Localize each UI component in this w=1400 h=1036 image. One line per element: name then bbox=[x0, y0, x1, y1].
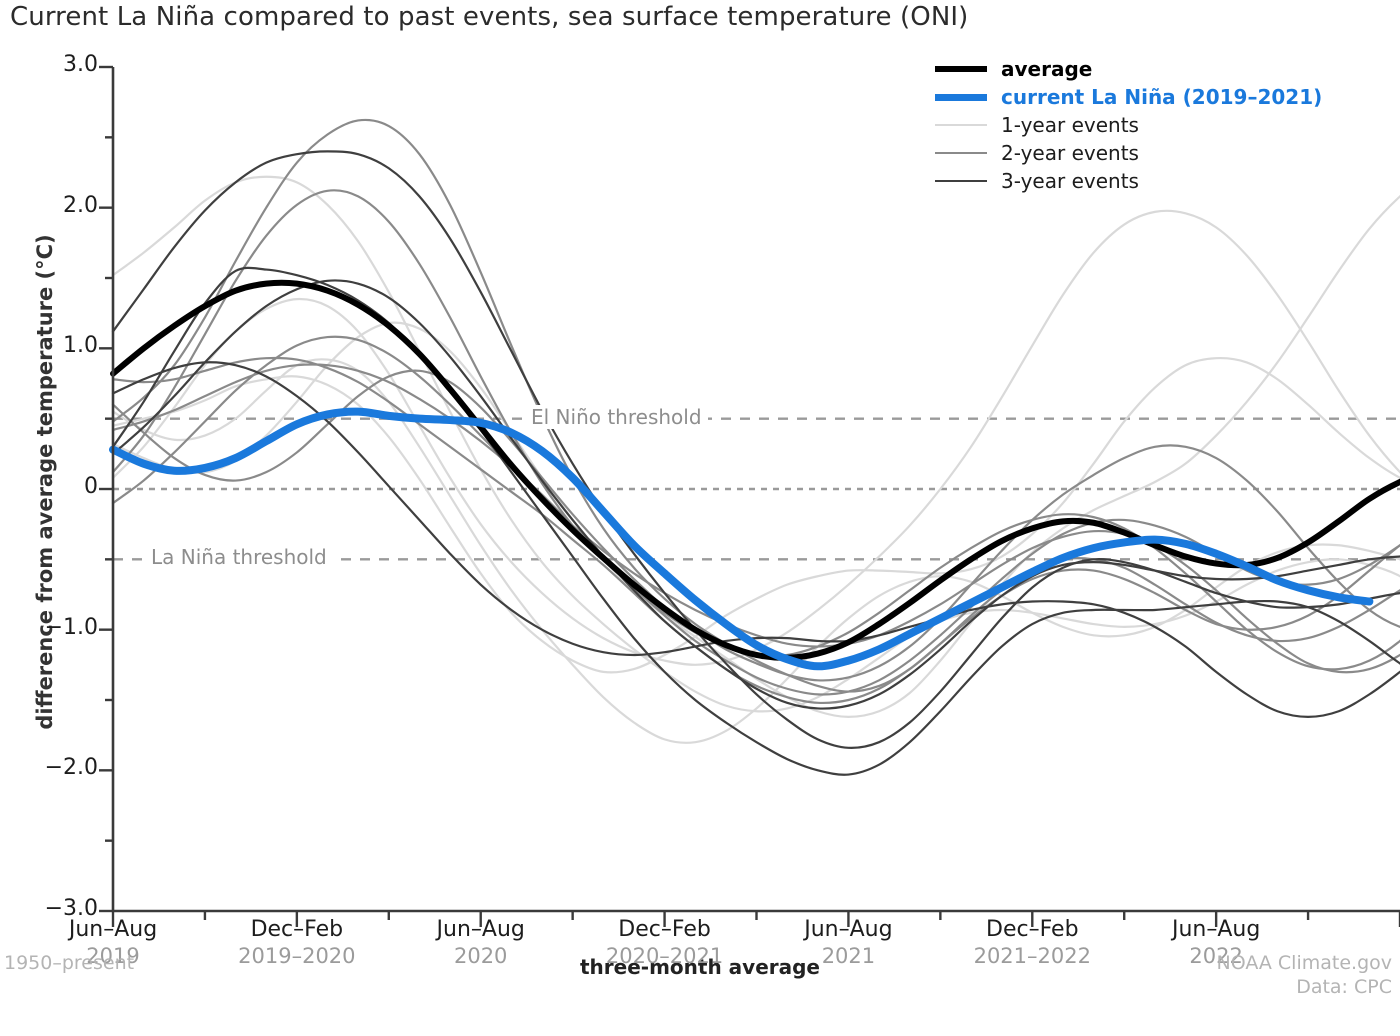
y-tick-label: 2.0 bbox=[28, 193, 98, 218]
x-tick-year: 2019–2020 bbox=[197, 943, 397, 969]
y-tick-label: 0 bbox=[28, 474, 98, 499]
series-line-three_year-0 bbox=[113, 151, 1400, 748]
legend-label-three-year: 3-year events bbox=[1001, 169, 1139, 193]
x-tick-month: Dec–Feb bbox=[932, 916, 1132, 943]
series-line-two_year-1 bbox=[113, 358, 1400, 703]
y-tick-label: −1.0 bbox=[28, 615, 98, 640]
legend-label-two-year: 2-year events bbox=[1001, 141, 1139, 165]
x-tick-month: Jun–Aug bbox=[1116, 916, 1316, 943]
legend-line-icon-three-year bbox=[935, 180, 987, 182]
x-tick-month: Jun–Aug bbox=[13, 916, 213, 943]
legend-item-current[interactable]: current La Niña (2019–2021) bbox=[935, 84, 1322, 110]
footer-period: 1950–present bbox=[4, 952, 134, 974]
chart-legend: average current La Niña (2019–2021) 1-ye… bbox=[935, 56, 1322, 196]
x-tick-month: Jun–Aug bbox=[381, 916, 581, 943]
x-tick-month: Dec–Feb bbox=[565, 916, 765, 943]
series-line-one_year-1 bbox=[113, 153, 1400, 717]
legend-line-icon-average bbox=[935, 66, 987, 72]
x-tick-label: Jun–Aug2020 bbox=[381, 916, 581, 969]
legend-item-two-year[interactable]: 2-year events bbox=[935, 140, 1322, 166]
legend-item-one-year[interactable]: 1-year events bbox=[935, 112, 1322, 138]
series-line-three_year-1 bbox=[113, 268, 1400, 775]
legend-line-icon-one-year bbox=[935, 124, 987, 126]
legend-item-average[interactable]: average bbox=[935, 56, 1322, 82]
x-tick-month: Jun–Aug bbox=[748, 916, 948, 943]
series-line-one_year-0 bbox=[113, 358, 1400, 672]
x-tick-year: 2020 bbox=[381, 943, 581, 969]
y-tick-label: 3.0 bbox=[28, 52, 98, 77]
annotation-el-nino-threshold: El Niño threshold bbox=[525, 405, 708, 429]
footer-source: NOAA Climate.gov bbox=[1217, 952, 1392, 974]
x-tick-year: 2021 bbox=[748, 943, 948, 969]
legend-label-one-year: 1-year events bbox=[1001, 113, 1139, 137]
x-tick-label: Dec–Feb2021–2022 bbox=[932, 916, 1132, 969]
legend-item-three-year[interactable]: 3-year events bbox=[935, 168, 1322, 194]
series-line-one_year-2 bbox=[113, 211, 1400, 665]
legend-line-icon-current bbox=[935, 94, 987, 101]
x-tick-month: Dec–Feb bbox=[197, 916, 397, 943]
y-tick-label: −2.0 bbox=[28, 755, 98, 780]
x-tick-label: Jun–Aug2021 bbox=[748, 916, 948, 969]
x-tick-label: Dec–Feb2020–2021 bbox=[565, 916, 765, 969]
legend-line-icon-two-year bbox=[935, 152, 987, 154]
legend-label-average: average bbox=[1001, 57, 1092, 81]
series-line-average-0 bbox=[113, 283, 1400, 658]
series-line-two_year-4 bbox=[113, 337, 1400, 672]
y-tick-label: 1.0 bbox=[28, 333, 98, 358]
x-tick-label: Dec–Feb2019–2020 bbox=[197, 916, 397, 969]
footer-data-source: Data: CPC bbox=[1296, 976, 1392, 998]
x-tick-year: 2020–2021 bbox=[565, 943, 765, 969]
annotation-la-nina-threshold: La Niña threshold bbox=[145, 545, 333, 569]
chart-page: Current La Niña compared to past events,… bbox=[0, 0, 1400, 1036]
legend-label-current: current La Niña (2019–2021) bbox=[1001, 85, 1322, 109]
x-tick-year: 2021–2022 bbox=[932, 943, 1132, 969]
